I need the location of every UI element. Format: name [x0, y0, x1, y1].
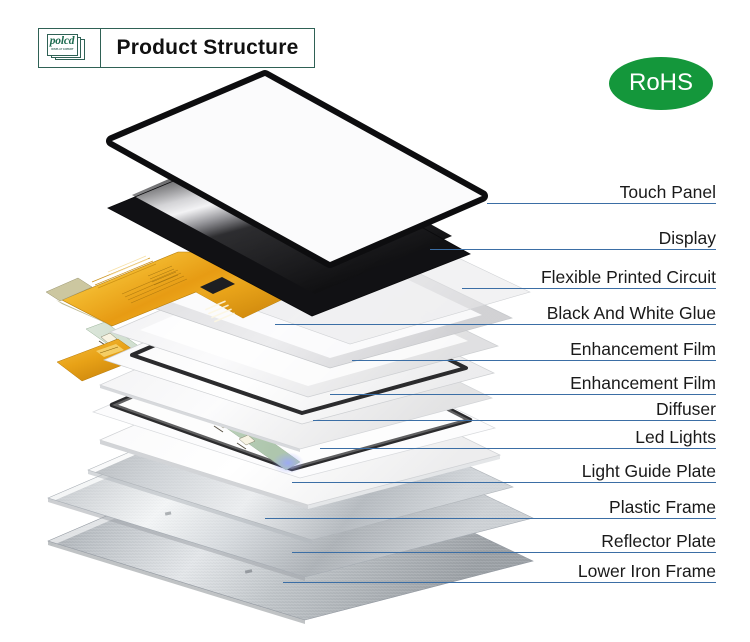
logo-tagline: DISPLAY EXPERT: [47, 48, 76, 51]
leader-line: [462, 288, 716, 289]
callout-label: Lower Iron Frame: [578, 561, 716, 581]
callout-label: Enhancement Film: [570, 339, 716, 359]
callout-list: Touch PanelDisplayFlexible Printed Circu…: [0, 0, 750, 642]
leader-line: [330, 394, 716, 395]
callout-label: Diffuser: [656, 399, 716, 419]
callout-label: Light Guide Plate: [582, 461, 716, 481]
callout-label: Enhancement Film: [570, 373, 716, 393]
leader-line: [292, 482, 716, 483]
callout-label: Flexible Printed Circuit: [541, 267, 716, 287]
callout-label: Touch Panel: [620, 182, 716, 202]
leader-line: [320, 448, 716, 449]
callout-label: Reflector Plate: [601, 531, 716, 551]
callout-label: Display: [659, 228, 716, 248]
leader-line: [430, 249, 716, 250]
leader-line: [292, 552, 716, 553]
leader-line: [265, 518, 716, 519]
leader-line: [352, 360, 716, 361]
callout-label: Black And White Glue: [547, 303, 716, 323]
leader-line: [487, 203, 716, 204]
logo-wordmark: polcd: [47, 35, 78, 48]
leader-line: [313, 420, 716, 421]
leader-line: [283, 582, 716, 583]
leader-line: [275, 324, 716, 325]
callout-label: Plastic Frame: [609, 497, 716, 517]
callout-label: Led Lights: [635, 427, 716, 447]
product-structure-page: polcd DISPLAY EXPERT Product Structure R…: [0, 0, 750, 642]
